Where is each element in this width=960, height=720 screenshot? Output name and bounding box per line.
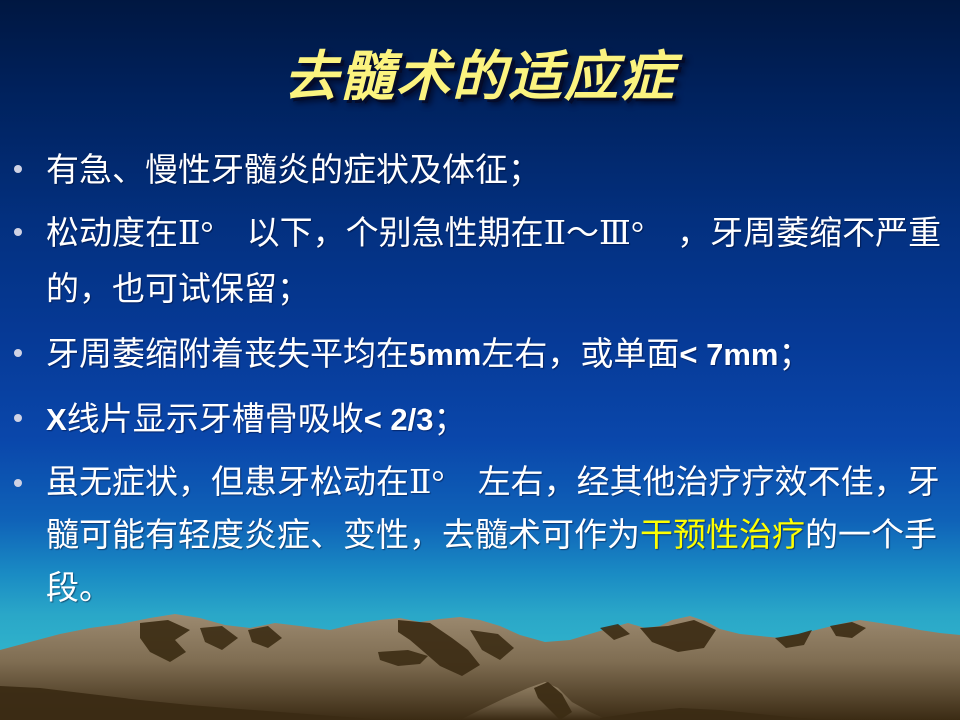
list-item: 牙周萎缩附着丧失平均在5mm左右，或单面< 7mm； xyxy=(0,327,960,383)
bullet-dot-icon xyxy=(14,228,22,236)
bullet-dot-icon xyxy=(14,349,22,357)
list-item-text: 虽无症状，但患牙松动在Ⅱ° 左右，经其他治疗疗效不佳，牙髓可能有轻度炎症、变性，… xyxy=(46,457,960,616)
list-item-text: X线片显示牙槽骨吸收< 2/3； xyxy=(46,392,960,448)
bullet-dot-icon xyxy=(14,414,22,422)
list-item: 松动度在Ⅱ° 以下，个别急性期在Ⅱ～Ⅲ° ，牙周萎缩不严重的，也可试保留； xyxy=(0,206,960,318)
list-item-text: 牙周萎缩附着丧失平均在5mm左右，或单面< 7mm； xyxy=(46,327,960,383)
list-item: 虽无症状，但患牙松动在Ⅱ° 左右，经其他治疗疗效不佳，牙髓可能有轻度炎症、变性，… xyxy=(0,457,960,616)
list-item-text: 松动度在Ⅱ° 以下，个别急性期在Ⅱ～Ⅲ° ，牙周萎缩不严重的，也可试保留； xyxy=(46,206,960,318)
slide-title: 去髓术的适应症 xyxy=(0,46,960,108)
slide-canvas: 去髓术的适应症 有急、慢性牙髓炎的症状及体征； 松动度在Ⅱ° 以下，个别急性期在… xyxy=(0,0,960,720)
list-item: 有急、慢性牙髓炎的症状及体征； xyxy=(0,143,960,199)
highlighted-term: 干预性治疗 xyxy=(640,518,805,554)
bullet-list: 有急、慢性牙髓炎的症状及体征； 松动度在Ⅱ° 以下，个别急性期在Ⅱ～Ⅲ° ，牙周… xyxy=(0,143,960,616)
list-item: X线片显示牙槽骨吸收< 2/3； xyxy=(0,392,960,448)
bullet-dot-icon xyxy=(14,165,22,173)
bullet-dot-icon xyxy=(14,479,22,487)
list-item-text: 有急、慢性牙髓炎的症状及体征； xyxy=(46,143,960,199)
